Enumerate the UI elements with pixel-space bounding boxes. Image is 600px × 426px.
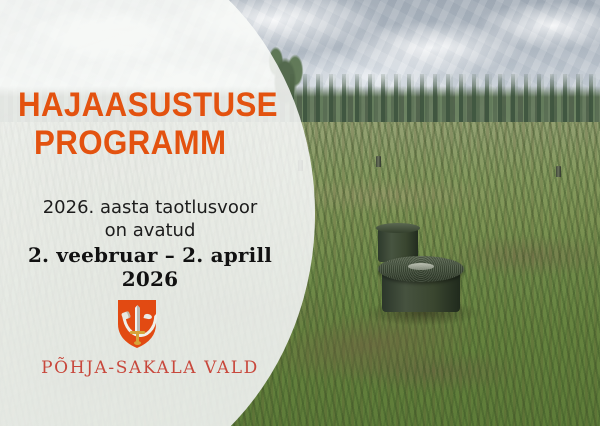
application-period-text: 2. veebruar – 2. aprill 2026 — [0, 243, 300, 291]
sword-pommel — [134, 341, 141, 345]
poster: HAJAASUSTUSE PROGRAMM 2026. aasta taotlu… — [0, 0, 600, 426]
field-post — [556, 166, 561, 177]
subtitle-line-2: on avatud — [0, 219, 300, 242]
headline-line-1: HAJAASUSTUSE — [18, 86, 259, 124]
headline-line-2: PROGRAMM — [18, 124, 259, 162]
subtitle: 2026. aasta taotlusvoor on avatud — [0, 196, 300, 242]
septic-tank-lid — [378, 256, 464, 282]
field-post — [376, 156, 381, 167]
coat-of-arms-icon — [118, 300, 156, 348]
municipality-wordmark: PÕHJA-SAKALA VALD — [0, 358, 300, 378]
subtitle-line-1: 2026. aasta taotlusvoor — [0, 196, 300, 219]
page-title: HAJAASUSTUSE PROGRAMM — [18, 86, 259, 162]
poster-content: HAJAASUSTUSE PROGRAMM 2026. aasta taotlu… — [0, 0, 300, 426]
sword-blade-icon — [135, 305, 140, 332]
